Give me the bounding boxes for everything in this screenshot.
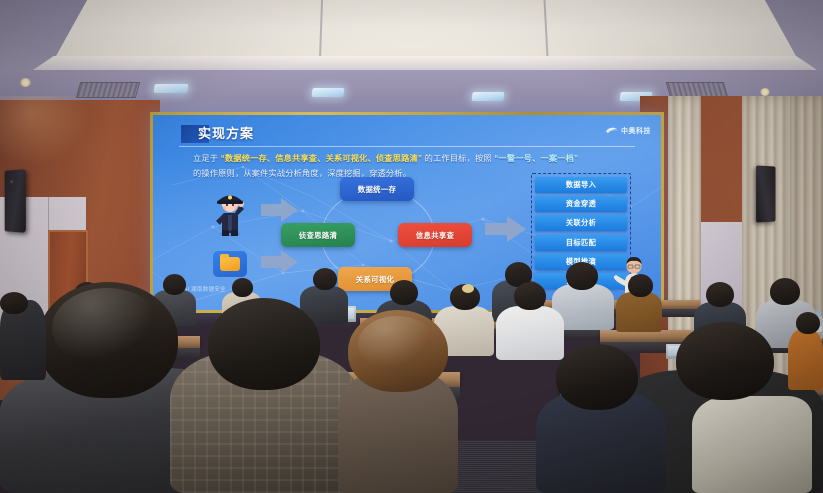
audience-head [208, 298, 320, 390]
body-highlight-principle: “一警一号、一案一档” [494, 154, 578, 163]
audience-head [0, 292, 28, 314]
body-highlight-goals: “数据统一存、信息共享查、关系可视化、侦查思路清” [221, 154, 423, 163]
hair-highlight [52, 288, 162, 368]
audience-body [616, 292, 662, 332]
audience-body [496, 306, 564, 360]
body-pre: 立足于 [193, 154, 221, 163]
arrow-right-icon [261, 197, 299, 223]
cycle-box-right: 信息共享查 [398, 223, 472, 247]
cycle-box-top: 数据统一存 [340, 177, 414, 201]
audience-head [232, 278, 253, 297]
logo-mark-icon [605, 126, 618, 136]
cycle-box-left: 侦查思路清 [281, 223, 355, 247]
downlight-icon [20, 78, 31, 87]
list-item: 资金穿透 [535, 196, 627, 212]
list-item: 关联分析 [535, 215, 627, 231]
police-officer-icon [211, 187, 249, 237]
list-item: 目标匹配 [535, 235, 627, 251]
audience-head [390, 280, 418, 305]
arrow-right-icon [485, 215, 527, 243]
speaker-icon [5, 169, 26, 233]
downlight-icon [760, 88, 770, 96]
audience-head [676, 322, 774, 400]
hair-tie [462, 284, 474, 293]
folder-icon [213, 251, 247, 277]
hair-highlight [358, 316, 436, 372]
conference-room-photo: 实现方案 中奥科技 立足于 “数据统一存、信息共享查、关系可视化、侦查思路清” … [0, 0, 823, 493]
audience-head [313, 268, 337, 290]
audience-head [796, 312, 820, 334]
led-panel-light [471, 92, 504, 101]
audience-head [566, 262, 598, 290]
speaker-icon [756, 165, 775, 222]
logo-text: 中奥科技 [621, 126, 651, 136]
audience-head [706, 282, 734, 307]
led-panel-light [153, 84, 188, 93]
audience-body [788, 330, 823, 390]
audience-head [514, 282, 546, 310]
jacket-panel [692, 396, 812, 493]
company-logo: 中奥科技 [605, 126, 651, 136]
audience-head [163, 274, 186, 295]
audience-head [628, 274, 653, 297]
audience-head [770, 278, 800, 305]
page-title: 实现方案 [198, 123, 254, 142]
list-item: 数据导入 [535, 177, 627, 193]
audience-head [556, 344, 638, 410]
wall-light-glow [0, 96, 90, 166]
body-mid: 的工作目标，按照 [422, 154, 494, 163]
arrow-right-icon [261, 249, 299, 275]
title-divider [179, 146, 635, 147]
led-panel-light [311, 88, 344, 97]
